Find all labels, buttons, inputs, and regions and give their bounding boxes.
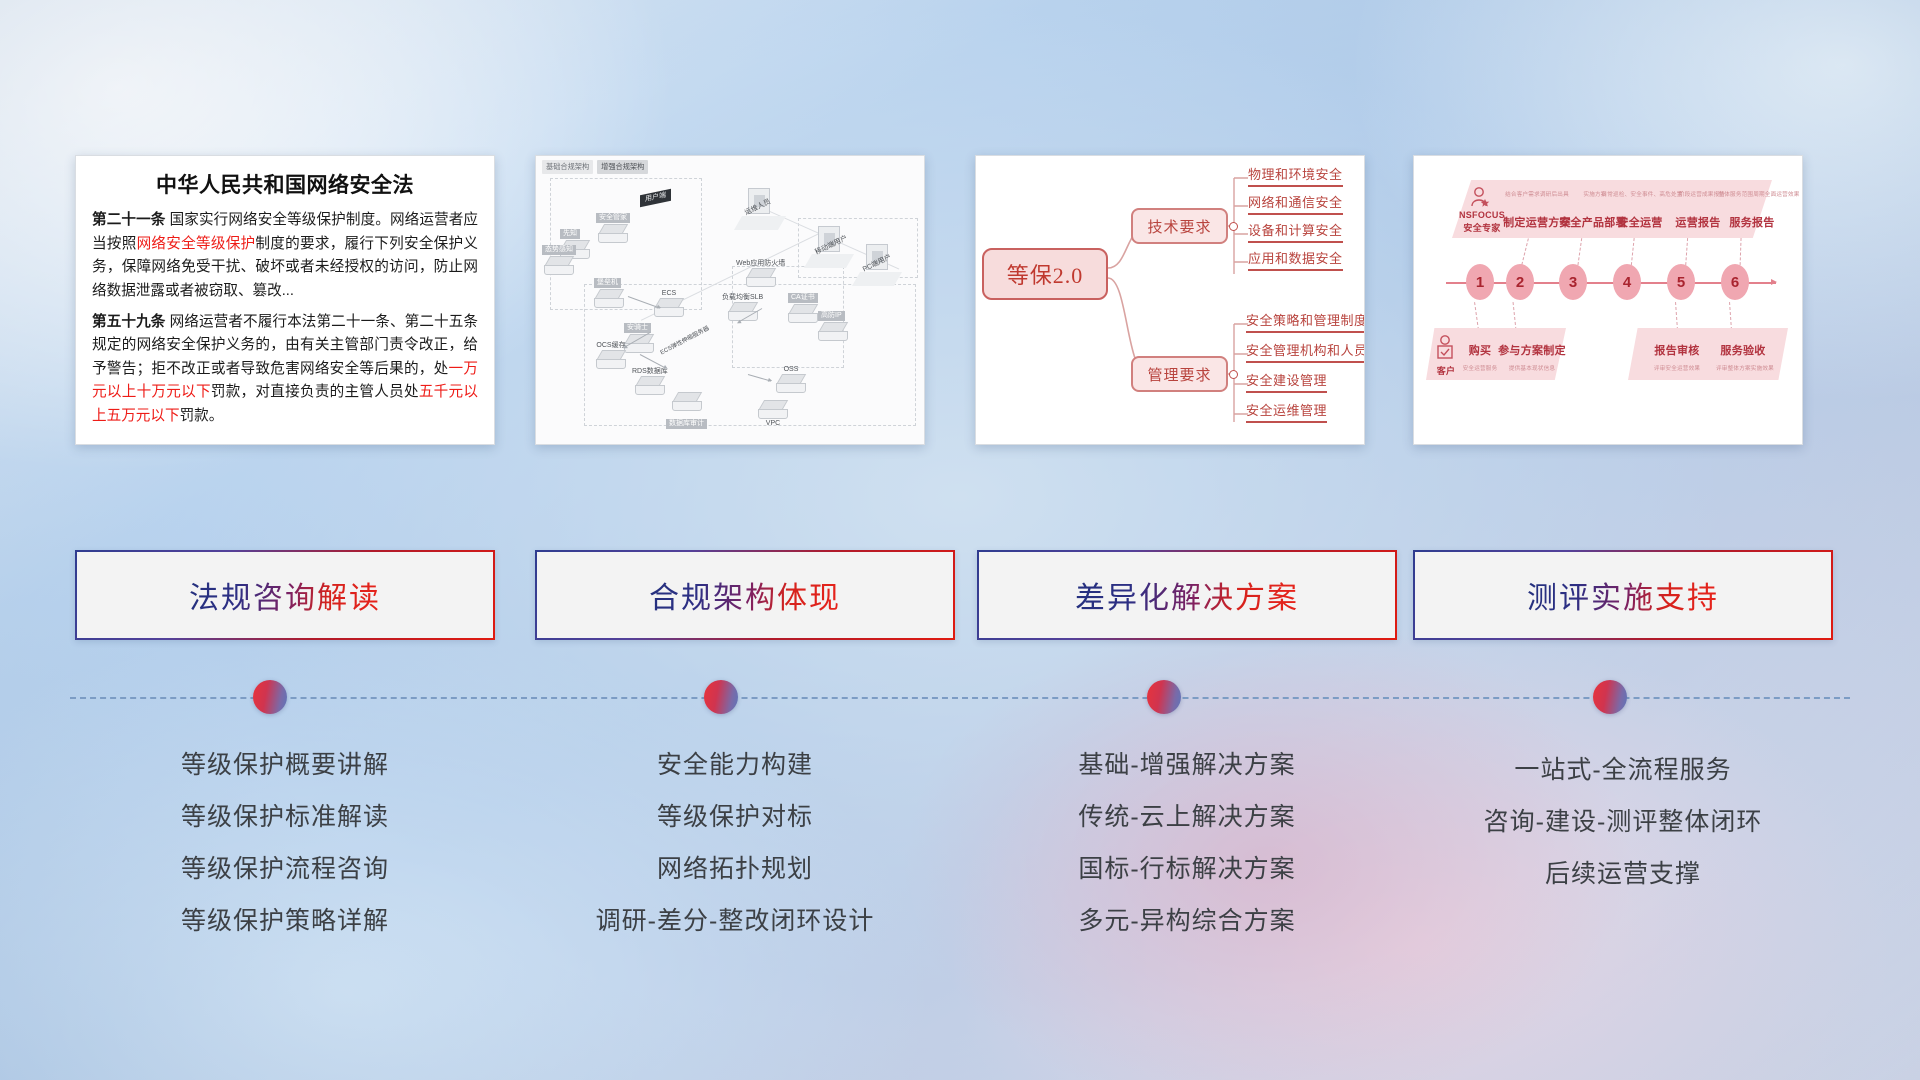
law-article-21-seg-1: 网络安全等级保护 bbox=[137, 236, 256, 252]
node-rds-db-label: RDS数据库 bbox=[632, 368, 668, 376]
cube-icon bbox=[746, 268, 776, 288]
mindmap-leaf-network-security: 网络和通信安全 bbox=[1248, 192, 1343, 215]
mindmap-leaf-physical-security: 物理和环境安全 bbox=[1248, 164, 1343, 187]
flow-step-6-marker: 6 bbox=[1721, 264, 1749, 300]
node-pc-user: PC端用户 bbox=[862, 238, 893, 268]
cube-icon bbox=[788, 304, 818, 324]
law-card-title: 中华人民共和国网络安全法 bbox=[92, 169, 478, 199]
node-ecs-label: ECS bbox=[654, 290, 684, 298]
section-title-3: 差异化解决方案 bbox=[1075, 573, 1299, 617]
node-rds-db: RDS数据库 bbox=[632, 368, 668, 396]
mindmap-card: 等保2.0 技术要求 物理和环境安全 网络和通信安全 设备和计算安全 应用和数据… bbox=[975, 155, 1365, 445]
list-item: 等级保护概要讲解 bbox=[75, 753, 495, 778]
flow-customer-step-2-caption: 参与方案制定 bbox=[1496, 342, 1568, 358]
plate-shape bbox=[734, 216, 786, 230]
node-ops-person: 运维人员 bbox=[744, 182, 772, 212]
architecture-diagram: 基础合规架构 增强合规架构 用户端 安全管家 先知 bbox=[536, 156, 924, 444]
list-item: 安全能力构建 bbox=[515, 753, 955, 778]
mindmap-branch-technical: 技术要求 bbox=[1131, 208, 1228, 244]
node-db-audit-label: 数据库审计 bbox=[666, 419, 707, 429]
section-title-2: 合规架构体现 bbox=[649, 573, 841, 617]
flow-step-6-caption: 服务报告 bbox=[1720, 214, 1784, 230]
flow-customer-step-1-caption: 购买 bbox=[1460, 342, 1500, 358]
list-item: 等级保护对标 bbox=[515, 805, 955, 830]
flow-step-4-marker: 4 bbox=[1613, 264, 1641, 300]
flow-step-4-caption: 安全运营 bbox=[1606, 214, 1674, 230]
flow-diagram: NSFOCUS 安全专家 结合客户需求调研后出具 制定运营方案 实施方案 安全产… bbox=[1414, 156, 1802, 444]
list-item: 一站式-全流程服务 bbox=[1413, 758, 1833, 783]
timeline-dot-3 bbox=[1147, 680, 1181, 714]
mindmap-collapse-dot bbox=[1229, 222, 1238, 231]
law-article-59-seg-2: 罚款，对直接负责的主管人员处 bbox=[211, 384, 419, 400]
node-anqishi-label: 安骑士 bbox=[624, 323, 651, 333]
law-article-21-label: 第二十一条 bbox=[92, 212, 165, 228]
mindmap-collapse-dot bbox=[1229, 370, 1238, 379]
flow-step-2-marker: 2 bbox=[1506, 264, 1534, 300]
node-bastion-host: 堡垒机 bbox=[594, 271, 624, 309]
list-item: 国标-行标解决方案 bbox=[977, 857, 1397, 882]
section-items-1: 等级保护概要讲解 等级保护标准解读 等级保护流程咨询 等级保护策略详解 bbox=[75, 753, 495, 934]
flow-step-1-marker: 1 bbox=[1466, 264, 1494, 300]
node-vpc: VPC bbox=[758, 400, 788, 428]
law-card: 中华人民共和国网络安全法 第二十一条 国家实行网络安全等级保护制度。网络运营者应… bbox=[75, 155, 495, 445]
node-security-butler-label: 安全管家 bbox=[596, 213, 630, 223]
list-item: 基础-增强解决方案 bbox=[977, 753, 1397, 778]
node-anti-ddos-ip: 高防IP bbox=[818, 304, 848, 342]
list-item: 等级保护流程咨询 bbox=[75, 857, 495, 882]
node-mobile-user: 移动端用户 bbox=[814, 220, 849, 250]
tab-enhanced-compliance[interactable]: 增强合规架构 bbox=[597, 160, 648, 174]
cube-icon bbox=[596, 350, 626, 370]
cube-icon bbox=[672, 392, 702, 412]
list-item: 等级保护标准解读 bbox=[75, 805, 495, 830]
node-ca-cert: CA证书 bbox=[788, 286, 818, 324]
mindmap-leaf-security-ops: 安全运维管理 bbox=[1246, 400, 1327, 423]
cube-icon bbox=[758, 400, 788, 420]
mindmap-branch-management: 管理要求 bbox=[1131, 356, 1228, 392]
slide-stage: 中华人民共和国网络安全法 第二十一条 国家实行网络安全等级保护制度。网络运营者应… bbox=[0, 0, 1920, 1080]
section-items-2: 安全能力构建 等级保护对标 网络拓扑规划 调研-差分-整改闭环设计 bbox=[515, 753, 955, 934]
node-db-audit: 数据库审计 bbox=[666, 392, 707, 430]
node-anqishi: 安骑士 bbox=[624, 316, 654, 354]
flow-customer-step-2-sub: 提供基本现状信息 bbox=[1496, 364, 1568, 372]
node-situation-awareness: 态势感知 bbox=[542, 238, 576, 276]
timeline-dot-2 bbox=[704, 680, 738, 714]
cube-icon bbox=[544, 256, 574, 276]
section-title-4: 测评实施支持 bbox=[1527, 573, 1719, 617]
tab-basic-compliance[interactable]: 基础合规架构 bbox=[542, 160, 593, 174]
flow-customer-step-3-caption: 报告审核 bbox=[1648, 342, 1706, 358]
plate-shape bbox=[852, 272, 902, 286]
flow-connector-accept bbox=[1729, 302, 1732, 330]
cube-icon bbox=[635, 376, 665, 396]
flow-customer-step-4-caption: 服务验收 bbox=[1714, 342, 1772, 358]
node-slb: 负载均衡SLB bbox=[722, 294, 763, 322]
mindmap-leaf-security-policy: 安全策略和管理制度 bbox=[1246, 310, 1365, 333]
section-items-4: 一站式-全流程服务 咨询-建设-测评整体闭环 后续运营支撑 bbox=[1413, 758, 1833, 887]
flow-customer-step-3-sub: 评审安全运营效果 bbox=[1642, 364, 1712, 372]
node-waf-label: Web应用防火墙 bbox=[736, 260, 785, 268]
timeline-dot-1 bbox=[253, 680, 287, 714]
mindmap-leaf-security-construction: 安全建设管理 bbox=[1246, 370, 1327, 393]
cube-icon bbox=[594, 289, 624, 309]
flow-customer-step-4-sub: 评审整体方案实施效果 bbox=[1706, 364, 1784, 372]
node-ecs-autoscale: ECS弹性伸缩服务器 bbox=[658, 338, 712, 345]
cube-icon bbox=[776, 374, 806, 394]
flow-step-2-sub: 结合客户需求调研后出具 bbox=[1500, 190, 1574, 198]
mindmap-leaf-application-security: 应用和数据安全 bbox=[1248, 248, 1343, 271]
customer-icon bbox=[1434, 334, 1458, 362]
node-user-terminal: 用户端 bbox=[640, 186, 671, 204]
node-bastion-host-label: 堡垒机 bbox=[594, 278, 621, 288]
plate-shape bbox=[804, 254, 854, 268]
node-oss: OSS bbox=[776, 366, 806, 394]
mindmap-leaf-security-org: 安全管理机构和人员 bbox=[1246, 340, 1365, 363]
list-item: 多元-异构综合方案 bbox=[977, 909, 1397, 934]
timeline-dashed-line bbox=[70, 697, 1850, 699]
list-item: 等级保护策略详解 bbox=[75, 909, 495, 934]
list-item: 传统-云上解决方案 bbox=[977, 805, 1397, 830]
flow-step-5-marker: 5 bbox=[1667, 264, 1695, 300]
flow-connector-participate bbox=[1513, 302, 1517, 330]
section-title-box-3[interactable]: 差异化解决方案 bbox=[977, 550, 1397, 640]
node-anti-ddos-ip-label: 高防IP bbox=[818, 311, 845, 321]
node-waf: Web应用防火墙 bbox=[736, 260, 785, 288]
section-title-1: 法规咨询解读 bbox=[189, 573, 381, 617]
law-article-59-seg-4: 罚款。 bbox=[180, 408, 224, 424]
list-item: 后续运营支撑 bbox=[1413, 862, 1833, 887]
law-article-59: 第五十九条 网络运营者不履行本法第二十一条、第二十五条规定的网络安全保护义务的，… bbox=[92, 311, 478, 429]
mindmap-leaf-device-security: 设备和计算安全 bbox=[1248, 220, 1343, 243]
law-article-21: 第二十一条 国家实行网络安全等级保护制度。网络运营者应当按照网络安全等级保护制度… bbox=[92, 209, 478, 304]
list-item: 网络拓扑规划 bbox=[515, 857, 955, 882]
section-title-box-2[interactable]: 合规架构体现 bbox=[535, 550, 955, 640]
section-title-box-1[interactable]: 法规咨询解读 bbox=[75, 550, 495, 640]
list-item: 咨询-建设-测评整体闭环 bbox=[1413, 810, 1833, 835]
architecture-card: 基础合规架构 增强合规架构 用户端 安全管家 先知 bbox=[535, 155, 925, 445]
node-vpc-label: VPC bbox=[758, 420, 788, 428]
node-security-butler: 安全管家 bbox=[596, 206, 630, 244]
architecture-tabs: 基础合规架构 增强合规架构 bbox=[542, 160, 648, 174]
node-slb-label: 负载均衡SLB bbox=[722, 294, 763, 302]
node-ca-cert-label: CA证书 bbox=[788, 293, 818, 303]
section-items-3: 基础-增强解决方案 传统-云上解决方案 国标-行标解决方案 多元-异构综合方案 bbox=[977, 753, 1397, 934]
cube-icon bbox=[818, 322, 848, 342]
list-item: 调研-差分-整改闭环设计 bbox=[515, 909, 955, 934]
node-situation-awareness-label: 态势感知 bbox=[542, 245, 576, 255]
timeline-dot-4 bbox=[1593, 680, 1627, 714]
expert-icon bbox=[1466, 186, 1496, 212]
cube-icon bbox=[598, 224, 628, 244]
law-article-59-label: 第五十九条 bbox=[92, 314, 165, 330]
mindmap-root: 等保2.0 bbox=[982, 248, 1108, 300]
node-ecs: ECS bbox=[654, 290, 684, 318]
mindmap-diagram: 等保2.0 技术要求 物理和环境安全 网络和通信安全 设备和计算安全 应用和数据… bbox=[976, 156, 1364, 444]
flow-step-3-marker: 3 bbox=[1559, 264, 1587, 300]
section-title-box-4[interactable]: 测评实施支持 bbox=[1413, 550, 1833, 640]
node-oss-label: OSS bbox=[776, 366, 806, 374]
flow-step-6-sub: 整体服务范围周期全面运营效果 bbox=[1716, 190, 1802, 198]
flow-connector-buy bbox=[1474, 302, 1479, 330]
flow-card: NSFOCUS 安全专家 结合客户需求调研后出具 制定运营方案 实施方案 安全产… bbox=[1413, 155, 1803, 445]
flow-connector-review bbox=[1675, 302, 1678, 330]
